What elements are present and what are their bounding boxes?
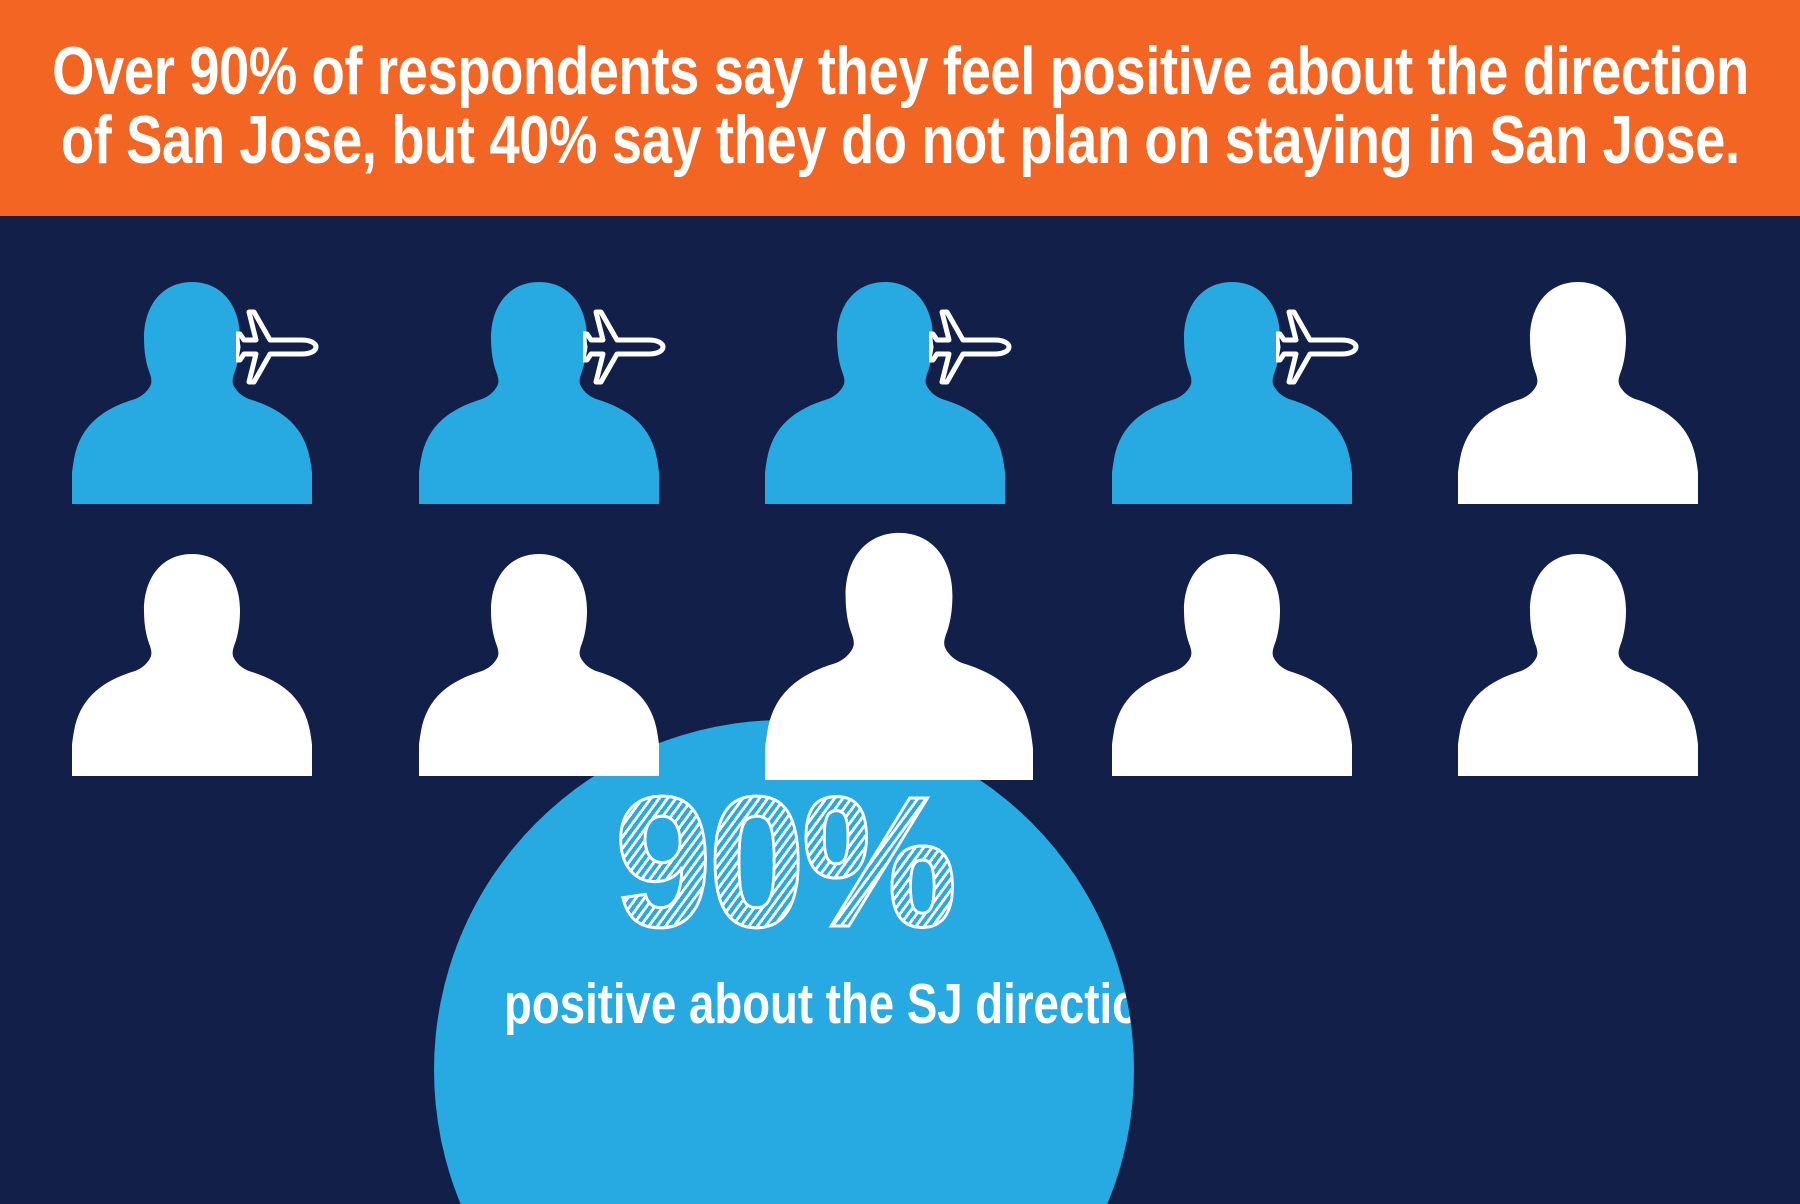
person-icon bbox=[1458, 274, 1698, 504]
person-icon bbox=[1458, 546, 1698, 776]
pictogram-unit-10 bbox=[1458, 546, 1728, 776]
callout-percentage: 90% bbox=[455, 770, 1113, 956]
pictogram-unit-8 bbox=[765, 546, 1035, 776]
pictogram-unit-2 bbox=[419, 274, 689, 504]
headline-line-1: Over 90% of respondents say they feel po… bbox=[52, 37, 1749, 106]
airplane-icon bbox=[236, 306, 328, 388]
person-icon bbox=[419, 546, 659, 776]
callout-circle: 90% positive about the SJ direction bbox=[434, 720, 1134, 1204]
callout-caption: positive about the SJ direction bbox=[504, 976, 1064, 1033]
pictogram-unit-9 bbox=[1112, 546, 1382, 776]
airplane-icon bbox=[929, 306, 1021, 388]
infographic-canvas: Over 90% of respondents say they feel po… bbox=[0, 0, 1800, 1204]
airplane-icon bbox=[583, 306, 675, 388]
pictogram-unit-5 bbox=[1458, 274, 1728, 504]
pictogram-unit-3 bbox=[765, 274, 1035, 504]
airplane-icon bbox=[1276, 306, 1368, 388]
pictogram-row-2 bbox=[0, 546, 1800, 776]
person-icon bbox=[765, 524, 1033, 780]
person-icon bbox=[1112, 546, 1352, 776]
pictogram-unit-4 bbox=[1112, 274, 1382, 504]
pictogram-unit-6 bbox=[72, 546, 342, 776]
pictogram-unit-7 bbox=[419, 546, 689, 776]
headline-line-2: of San Jose, but 40% say they do not pla… bbox=[61, 106, 1740, 175]
person-icon bbox=[72, 546, 312, 776]
header-band: Over 90% of respondents say they feel po… bbox=[0, 0, 1800, 216]
pictogram-row-1 bbox=[0, 274, 1800, 504]
pictogram-unit-1 bbox=[72, 274, 342, 504]
